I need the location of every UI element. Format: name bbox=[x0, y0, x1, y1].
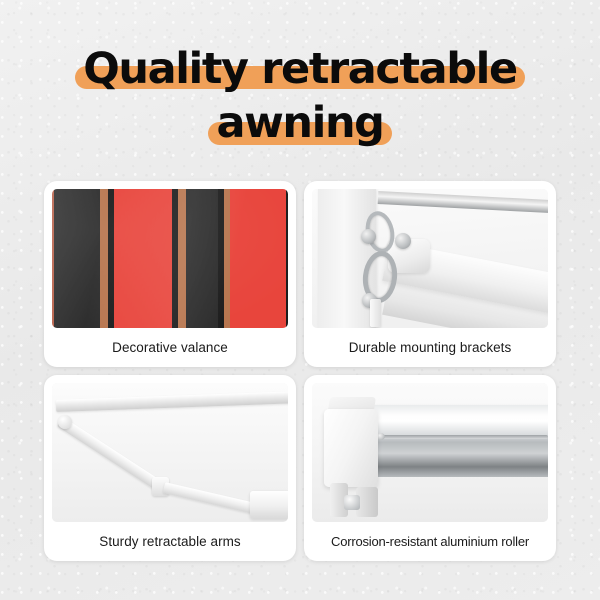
striped-fabric-graphic bbox=[52, 189, 288, 328]
roller-groove-shape bbox=[372, 435, 548, 439]
photo-aluminium-roller bbox=[312, 383, 548, 522]
feature-card-aluminium-roller: Corrosion-resistant aluminium roller bbox=[304, 375, 556, 561]
caption-retractable-arms: Sturdy retractable arms bbox=[52, 522, 288, 561]
top-rail-shape bbox=[378, 191, 548, 214]
arm-end-cap-shape bbox=[250, 491, 288, 519]
upper-arm-shape bbox=[57, 417, 167, 494]
product-feature-poster: Quality retractable awning Decorative va… bbox=[0, 0, 600, 600]
feature-card-grid: Decorative valance Durable mou bbox=[44, 181, 556, 561]
headline-text-2: awning bbox=[216, 98, 383, 148]
headline-line-2: awning bbox=[0, 102, 600, 145]
roller-tube-graphic bbox=[312, 383, 548, 522]
hook-bar-shape bbox=[370, 299, 381, 327]
feature-card-mounting-brackets: Durable mounting brackets bbox=[304, 181, 556, 367]
arm-assembly-graphic bbox=[52, 383, 288, 522]
caption-aluminium-roller: Corrosion-resistant aluminium roller bbox=[312, 522, 548, 561]
front-rail-shape bbox=[56, 391, 288, 412]
feature-card-decorative-valance: Decorative valance bbox=[44, 181, 296, 367]
photo-retractable-arms bbox=[52, 383, 288, 522]
bolt-head-2 bbox=[395, 233, 411, 249]
bolt-head-1 bbox=[361, 229, 376, 244]
caption-mounting-brackets: Durable mounting brackets bbox=[312, 328, 548, 367]
roller-end-cap-shape bbox=[324, 409, 378, 487]
photo-mounting-brackets bbox=[312, 189, 548, 328]
page-title: Quality retractable awning bbox=[0, 48, 600, 145]
caption-decorative-valance: Decorative valance bbox=[52, 328, 288, 367]
feature-card-retractable-arms: Sturdy retractable arms bbox=[44, 375, 296, 561]
roller-nut-shape bbox=[344, 495, 360, 510]
bracket-graphic bbox=[312, 189, 548, 328]
arm-pivot-shape bbox=[58, 415, 72, 429]
photo-decorative-valance bbox=[52, 189, 288, 328]
roller-tube-underside-shape bbox=[368, 467, 548, 477]
headline-text-1: Quality retractable bbox=[83, 44, 517, 94]
headline-line-1: Quality retractable bbox=[0, 48, 600, 91]
